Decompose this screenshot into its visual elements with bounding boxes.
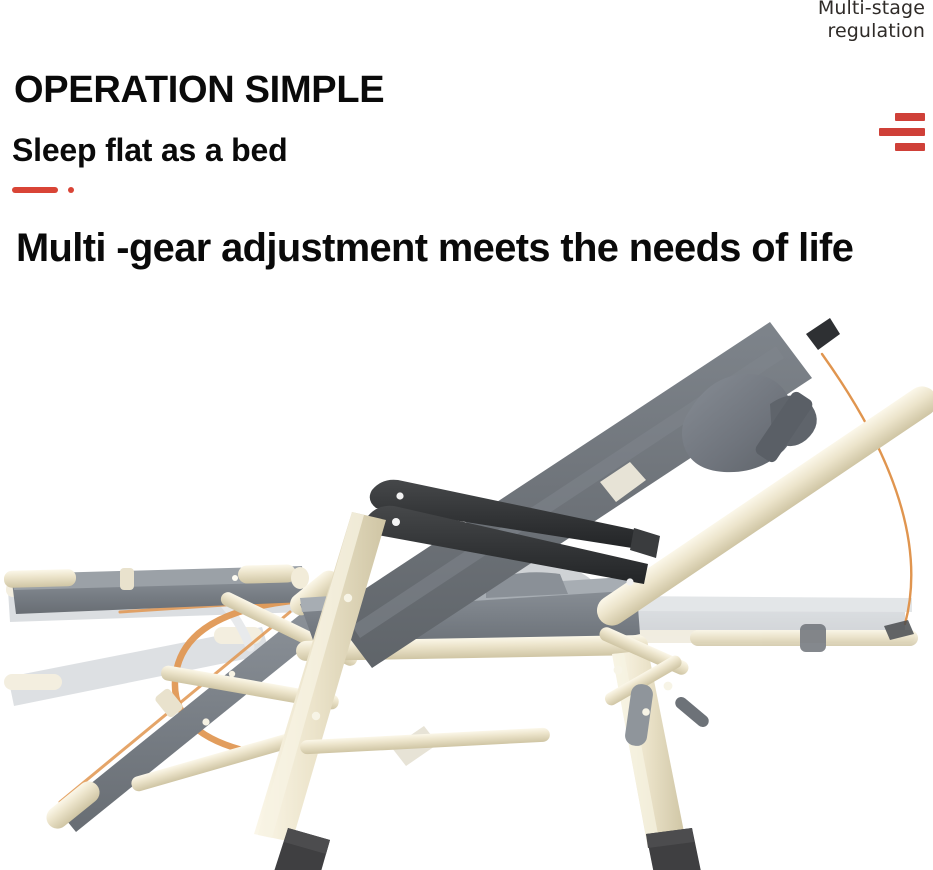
red-divider	[12, 186, 92, 194]
headline-primary: OPERATION SIMPLE	[14, 69, 384, 111]
divider-dot	[68, 187, 74, 193]
kicker-line-1: Multi-stage	[665, 0, 925, 20]
rear-leg	[612, 650, 704, 870]
divider-bar	[12, 187, 58, 193]
headline-secondary: Sleep flat as a bed	[12, 131, 287, 169]
product-image	[0, 282, 933, 870]
kicker-line-2: regulation	[665, 20, 925, 43]
recliner-chair-illustration	[0, 282, 933, 870]
headline-tertiary: Multi -gear adjustment meets the needs o…	[16, 224, 916, 272]
kicker-label: Multi-stage regulation	[665, 0, 925, 43]
stripe-bar-top	[895, 113, 925, 121]
stripe-bar-bottom	[895, 143, 925, 151]
stripe-bar-middle	[879, 128, 925, 136]
backrest-recline-arc-icon	[822, 354, 911, 624]
red-stripes-decoration	[879, 113, 925, 155]
